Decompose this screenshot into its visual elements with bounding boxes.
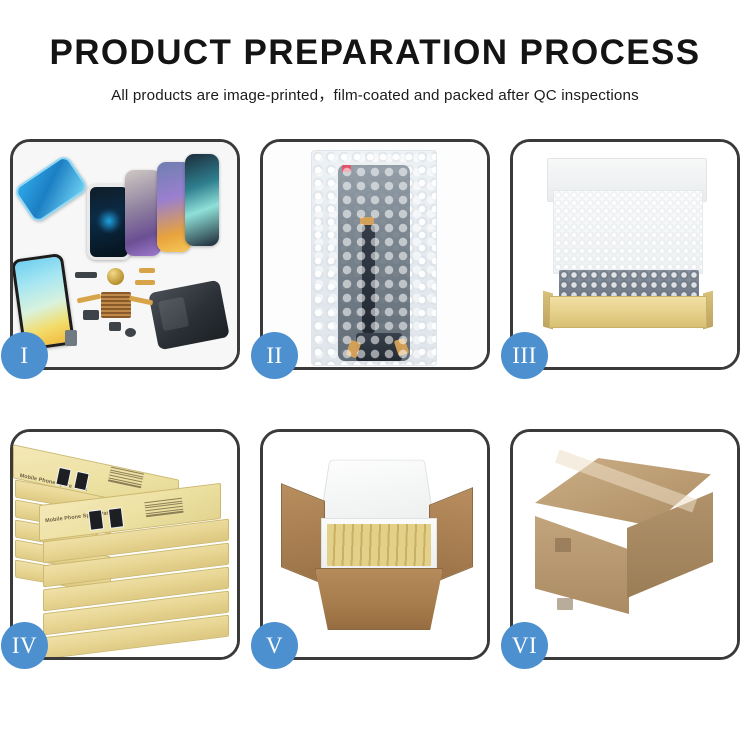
carton-with-foam-box-photo — [263, 432, 487, 657]
gold-boxes-inside-shape — [327, 524, 431, 566]
page-title: PRODUCT PREPARATION PROCESS — [0, 34, 750, 72]
copper-coil-shape — [107, 268, 124, 285]
red-label-sticker-shape — [342, 165, 351, 172]
gold-box-front-shape — [549, 296, 707, 328]
step-numeral-3: III — [512, 343, 536, 369]
box-phone-artwork — [108, 507, 124, 529]
step-numeral-1: I — [20, 343, 28, 369]
speaker-mesh-shape — [101, 292, 131, 318]
step-badge-3: III — [501, 332, 548, 379]
chip-shape — [75, 272, 97, 278]
teal-phone-shape — [185, 154, 219, 246]
foam-lid-shape — [320, 460, 434, 520]
step-badge-1: I — [1, 332, 48, 379]
carton-front-shape — [315, 568, 443, 630]
phone-screens-and-spare-parts-photo — [13, 142, 237, 367]
step-badge-4: IV — [1, 622, 48, 669]
purple-phone-shape — [125, 170, 161, 256]
page-subtitle: All products are image-printed，film-coat… — [0, 83, 750, 105]
step-card-4: Mobile Phone Spare Parts Mobile Phone Sp… — [10, 429, 240, 660]
step-card-6: VI — [510, 429, 740, 660]
step-numeral-6: VI — [512, 633, 537, 659]
step-badge-6: VI — [501, 622, 548, 669]
carton-seal-mark-shape — [557, 598, 573, 610]
step-card-3: III — [510, 139, 740, 370]
flex-cable-shape — [139, 268, 155, 273]
step-card-2: II — [260, 139, 490, 370]
page-header: PRODUCT PREPARATION PROCESS All products… — [0, 0, 750, 105]
open-gold-box-with-foam-photo — [513, 142, 737, 367]
bubble-wrapped-lcd-photo — [263, 142, 487, 367]
lcd-flex-cable-shape — [362, 225, 375, 333]
step-badge-2: II — [251, 332, 298, 379]
battery-shape — [65, 330, 77, 346]
white-foam-sheet-shape — [553, 190, 703, 274]
chip-shape — [109, 322, 121, 331]
flex-cable-shape — [135, 280, 155, 285]
step-card-5: V — [260, 429, 490, 660]
sealed-shipping-carton-photo — [513, 432, 737, 657]
bubble-wrap-bag-shape — [311, 150, 437, 366]
step-numeral-2: II — [266, 343, 282, 369]
box-phone-artwork — [88, 509, 104, 531]
process-steps-grid: I II — [10, 139, 740, 660]
chip-shape — [83, 310, 99, 320]
step-badge-5: V — [251, 622, 298, 669]
gold-contact-shape — [360, 217, 374, 225]
step-numeral-5: V — [266, 633, 283, 659]
step-numeral-4: IV — [12, 633, 37, 659]
step-card-1: I — [10, 139, 240, 370]
stacked-gold-retail-boxes-photo: Mobile Phone Spare Parts Mobile Phone Sp… — [13, 432, 237, 657]
carton-seal-mark-shape — [555, 538, 571, 552]
button-shape — [125, 328, 136, 337]
